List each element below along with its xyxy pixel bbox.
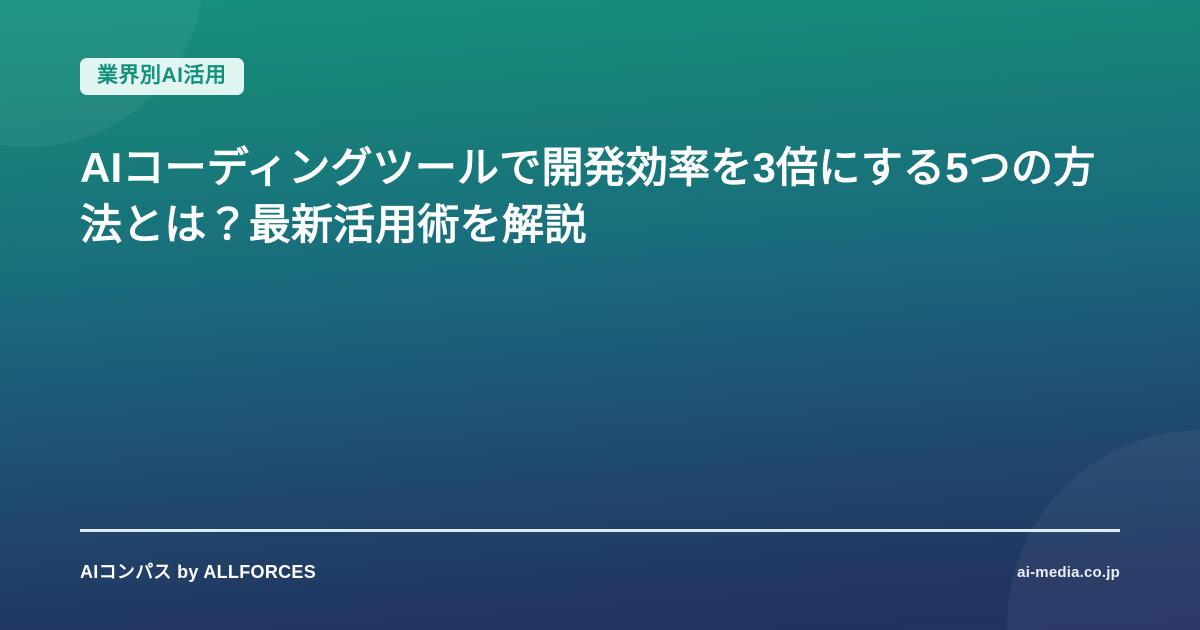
footer-site-domain: ai-media.co.jp	[1017, 565, 1120, 580]
category-badge: 業界別AI活用	[80, 58, 244, 95]
footer-brand-name: AIコンパス by ALLFORCES	[80, 563, 316, 581]
card-content: 業界別AI活用 AIコーディングツールで開発効率を3倍にする5つの方法とは？最新…	[80, 0, 1120, 630]
footer-divider	[80, 529, 1120, 532]
og-card: 業界別AI活用 AIコーディングツールで開発効率を3倍にする5つの方法とは？最新…	[0, 0, 1200, 630]
card-footer: AIコンパス by ALLFORCES ai-media.co.jp	[80, 558, 1120, 586]
page-title: AIコーディングツールで開発効率を3倍にする5つの方法とは？最新活用術を解説	[80, 139, 1110, 253]
